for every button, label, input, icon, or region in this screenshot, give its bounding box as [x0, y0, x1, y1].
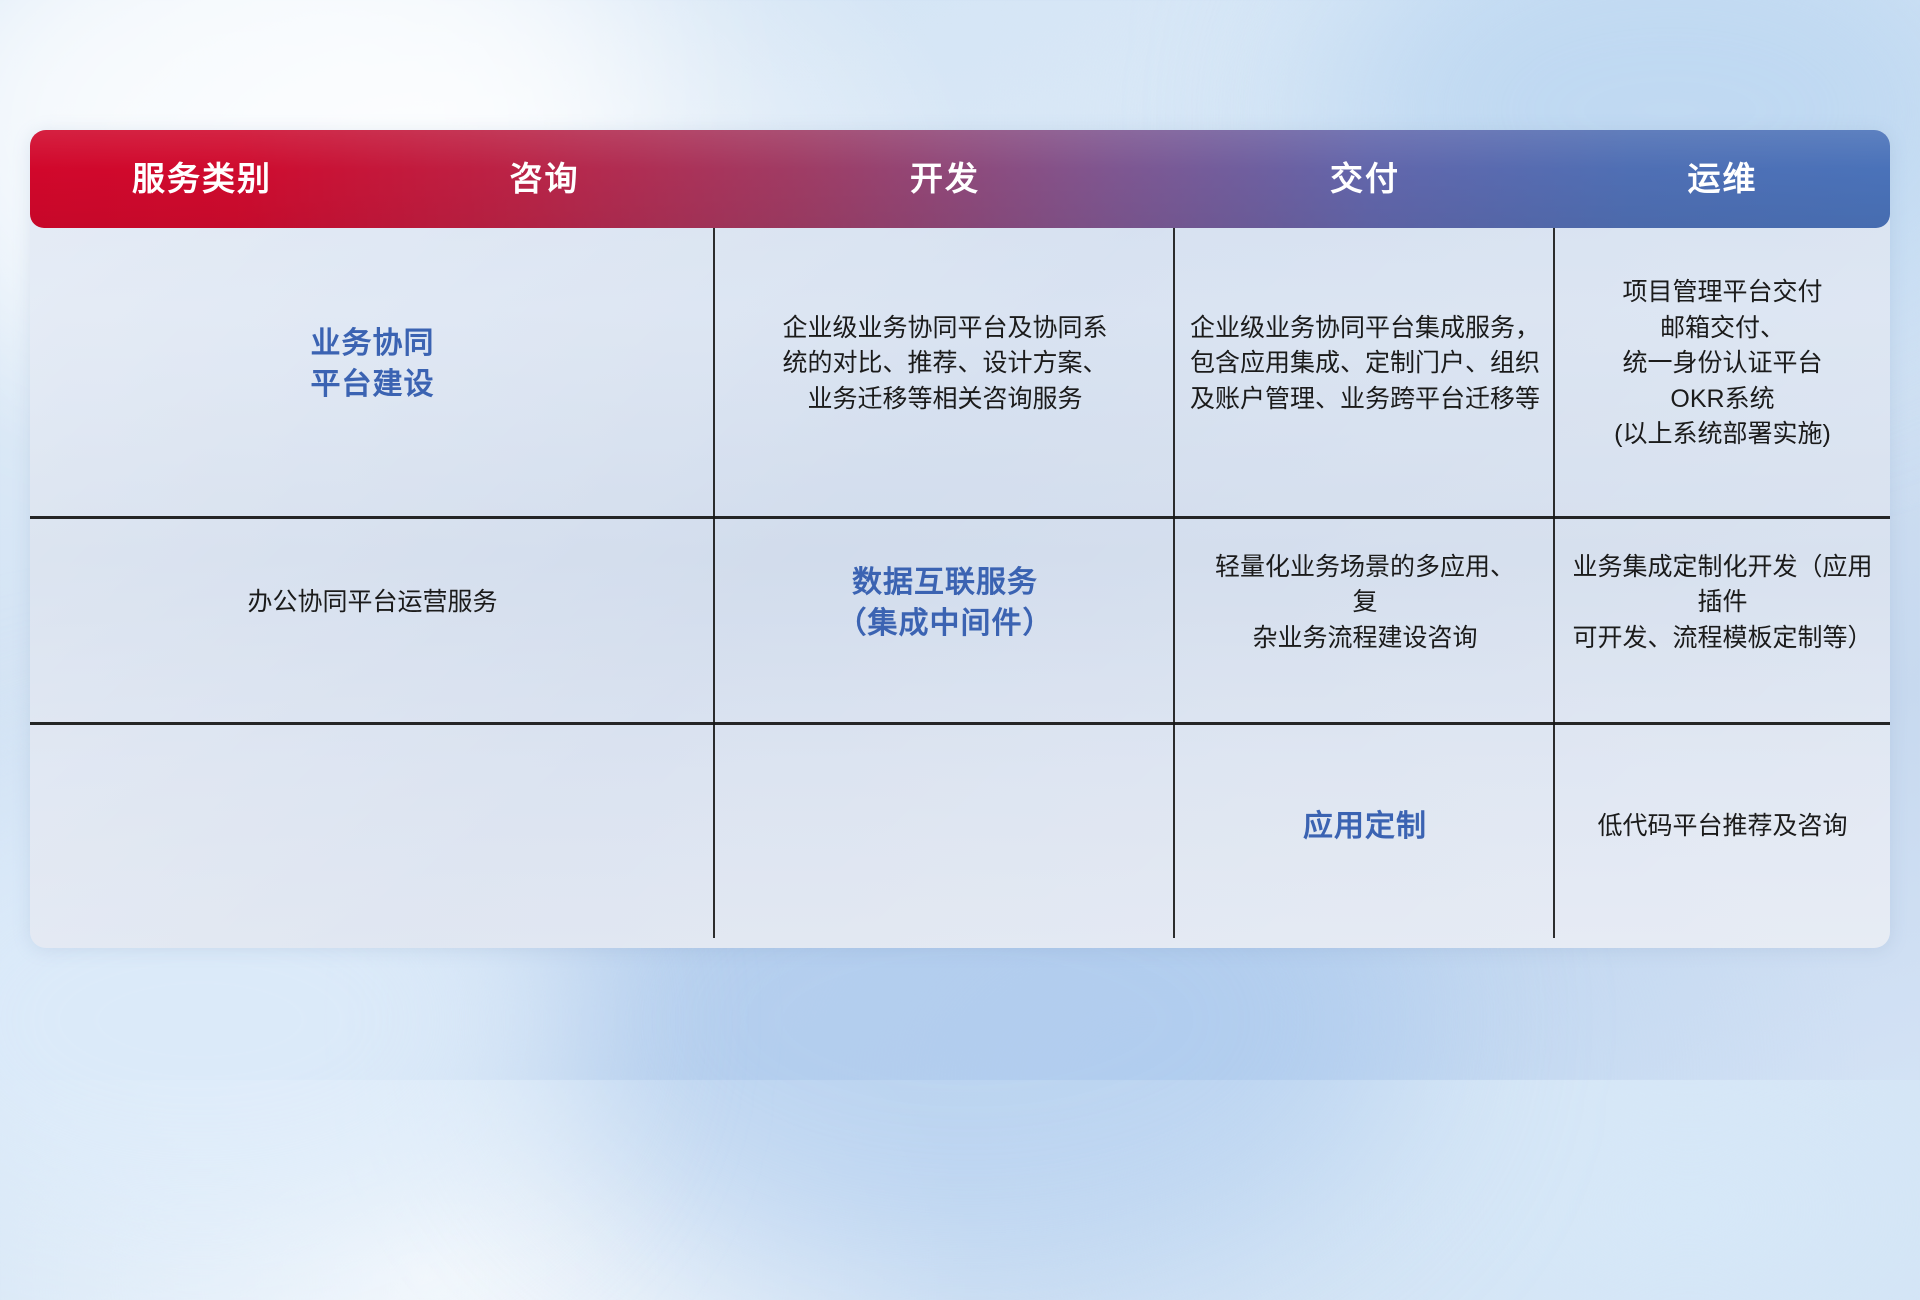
- column-header-category: 服务类别: [30, 161, 374, 197]
- service-matrix-table: 服务类别 咨询 开发 交付 运维 业务协同 平台建设 企业级业务协同平台及协同系…: [30, 130, 1890, 948]
- column-header-consulting: 咨询: [374, 161, 715, 197]
- table-row-1-operations: 办公协同平台运营服务: [30, 500, 715, 706]
- column-header-development: 开发: [715, 161, 1175, 197]
- table-grid: 服务类别 咨询 开发 交付 运维 业务协同 平台建设 企业级业务协同平台及协同系…: [30, 130, 1890, 948]
- table-row-2-category: 数据互联服务 （集成中间件）: [715, 500, 1175, 706]
- table-row-3-consulting: 低代码平台推荐及咨询: [1555, 706, 1890, 948]
- column-header-delivery: 交付: [1175, 161, 1555, 197]
- table-header-row: 服务类别 咨询 开发 交付 运维: [30, 130, 1890, 228]
- table-row-1-consulting: 企业级业务协同平台及协同系 统的对比、推荐、设计方案、 业务迁移等相关咨询服务: [715, 228, 1175, 500]
- table-row-1-development: 企业级业务协同平台集成服务， 包含应用集成、定制门户、组织 及账户管理、业务跨平…: [1175, 228, 1555, 500]
- table-row-2-development: 业务集成定制化开发（应用插件 可开发、流程模板定制等）: [1555, 500, 1890, 706]
- table-row-1-delivery: 项目管理平台交付 邮箱交付、 统一身份认证平台 OKR系统 (以上系统部署实施): [1555, 228, 1890, 500]
- column-divider-2: [1173, 228, 1175, 938]
- row-divider-2: [30, 722, 1890, 725]
- row-divider-1: [30, 516, 1890, 519]
- column-header-operations: 运维: [1555, 161, 1890, 197]
- table-row-2-consulting: 轻量化业务场景的多应用、复 杂业务流程建设咨询: [1175, 500, 1555, 706]
- column-divider-1: [713, 228, 715, 938]
- table-row-3-category: 应用定制: [1175, 706, 1555, 948]
- table-row-1-category: 业务协同 平台建设: [30, 228, 715, 500]
- table-row-2-operations: [715, 706, 1175, 948]
- column-divider-3: [1553, 228, 1555, 938]
- table-row-2-delivery: [30, 706, 715, 948]
